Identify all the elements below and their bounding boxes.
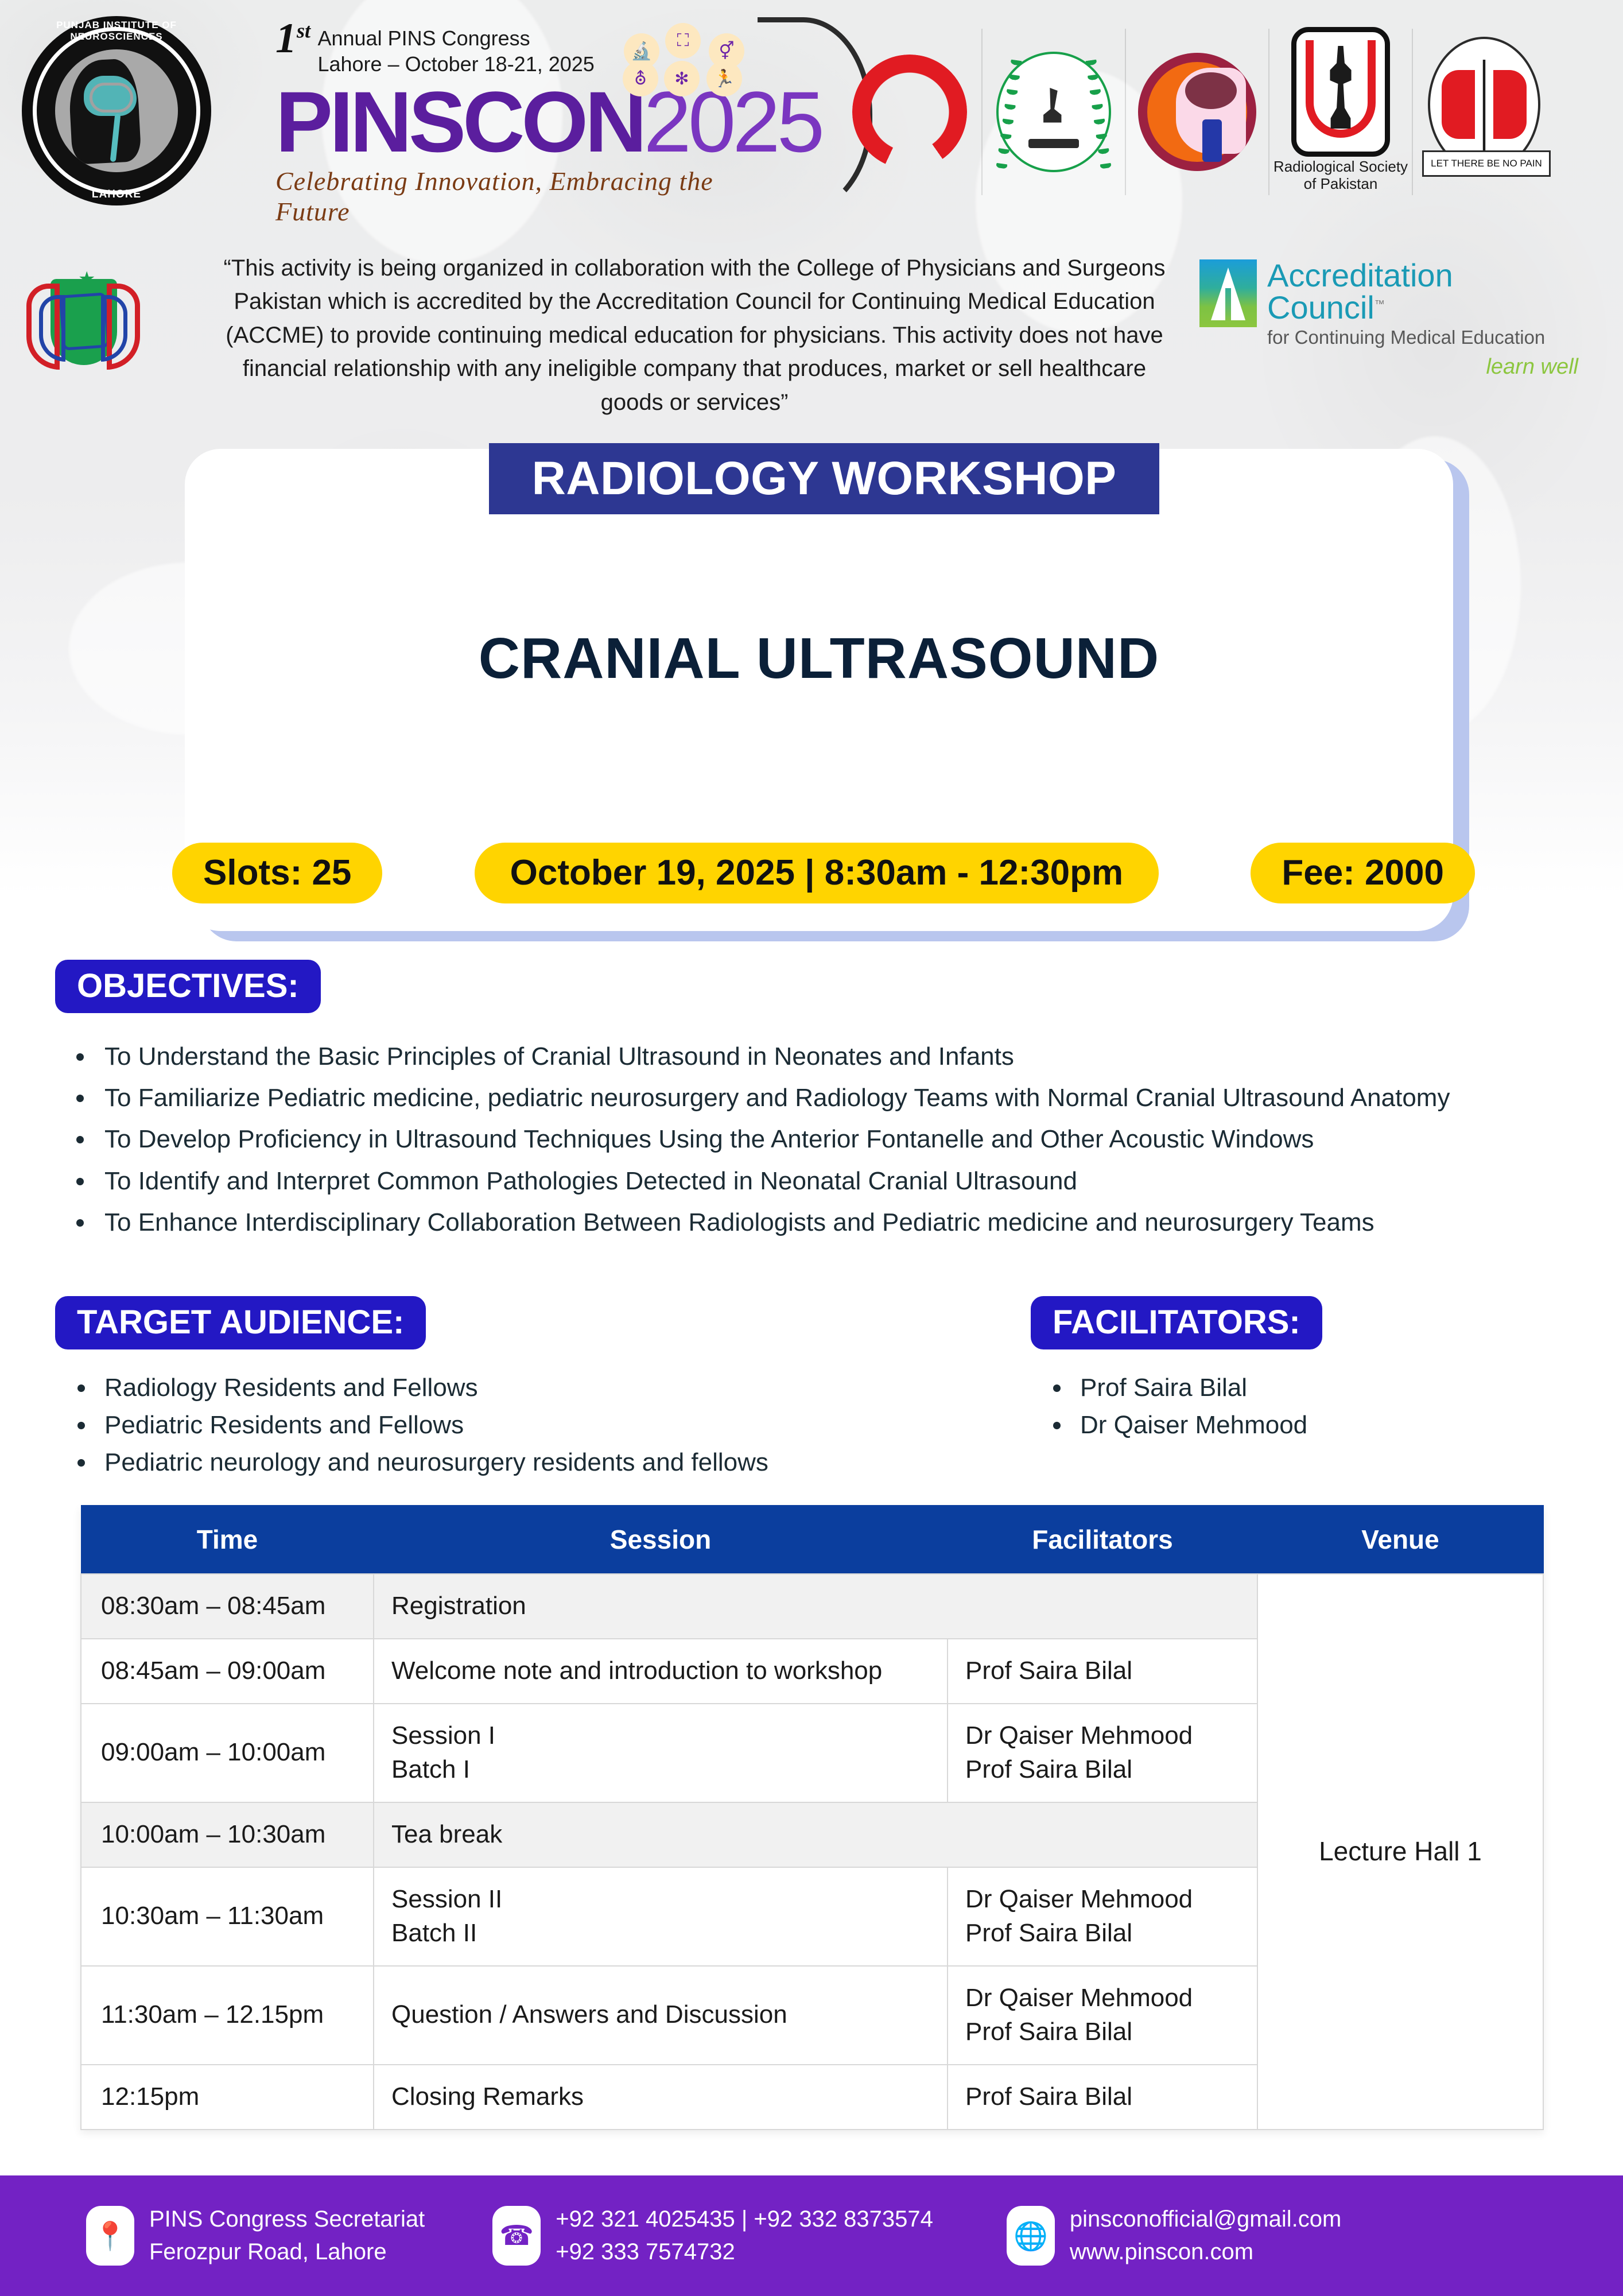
page-footer: 📍 PINS Congress Secretariat Ferozpur Roa… <box>0 2175 1623 2296</box>
page-header: PUNJAB INSTITUTE OF NEUROSCIENCES LAHORE… <box>0 0 1623 230</box>
partner-logos: Radiological Society of Pakistan LET THE… <box>838 29 1555 195</box>
congress-ordinal: 1st <box>275 22 310 56</box>
list-item: To Enhance Interdisciplinary Collaborati… <box>95 1204 1570 1241</box>
facilitators-block: FACILITATORS: Prof Saira Bilal Dr Qaiser… <box>1031 1296 1570 1481</box>
audience-facilitators-section: TARGET AUDIENCE: Radiology Residents and… <box>55 1296 1570 1481</box>
congress-tagline: Celebrating Innovation, Embracing the Fu… <box>275 166 769 227</box>
list-item: Pediatric Residents and Fellows <box>96 1406 1031 1444</box>
cell-facilitators: Dr Qaiser MehmoodProf Saira Bilal <box>948 1704 1257 1802</box>
anaesthesiologists-motto: LET THERE BE NO PAIN <box>1422 150 1551 177</box>
cell-facilitators: Prof Saira Bilal <box>948 2065 1257 2130</box>
list-item: To Understand the Basic Principles of Cr… <box>95 1038 1570 1075</box>
accme-title: Accreditation Council™ <box>1267 259 1578 324</box>
mri-scanner-icon: ⛶ <box>665 23 701 59</box>
list-item: To Familiarize Pediatric medicine, pedia… <box>95 1080 1570 1116</box>
datetime-pill: October 19, 2025 | 8:30am - 12:30pm <box>475 843 1159 903</box>
pakistan-society-of-neurology-logo <box>1125 29 1268 195</box>
target-audience-list: Radiology Residents and Fellows Pediatri… <box>55 1369 1031 1481</box>
slots-pill: Slots: 25 <box>172 843 382 903</box>
column-header-time: Time <box>81 1506 374 1574</box>
objectives-heading: OBJECTIVES: <box>55 960 321 1013</box>
radiological-society-of-pakistan-logo: Radiological Society of Pakistan <box>1268 29 1412 195</box>
cell-venue: Lecture Hall 1 <box>1257 1574 1543 2130</box>
college-of-physicians-and-surgeons-pakistan-crest: ★ <box>23 253 143 402</box>
seal-top-text: PUNJAB INSTITUTE OF NEUROSCIENCES <box>22 20 211 42</box>
list-item: Pediatric neurology and neurosurgery res… <box>96 1444 1031 1481</box>
objectives-list: To Understand the Basic Principles of Cr… <box>55 1038 1570 1241</box>
cell-time: 11:30am – 12.15pm <box>81 1966 374 2065</box>
workshop-meta-pills: Slots: 25 October 19, 2025 | 8:30am - 12… <box>172 843 1475 903</box>
column-header-session: Session <box>374 1506 948 1574</box>
brain-head-icon <box>55 49 178 172</box>
cell-session: Registration <box>374 1574 1257 1639</box>
target-audience-heading: TARGET AUDIENCE: <box>55 1296 426 1349</box>
pakistan-society-of-neurosurgeons-logo <box>838 29 981 195</box>
accme-logo: Accreditation Council™ for Continuing Me… <box>1199 259 1578 379</box>
seal-bottom-text: LAHORE <box>22 188 211 201</box>
running-person-icon: 🏃 <box>706 61 742 96</box>
schedule-table-body: 08:30am – 08:45am Registration Lecture H… <box>81 1574 1543 2130</box>
accreditation-strip: ★ “This activity is being organized in c… <box>0 247 1623 419</box>
table-header-row: Time Session Facilitators Venue <box>81 1506 1543 1574</box>
footer-web[interactable]: 🌐 pinsconofficial@gmail.com www.pinscon.… <box>1007 2203 1341 2268</box>
list-item: Dr Qaiser Mehmood <box>1072 1406 1570 1444</box>
footer-web-text[interactable]: pinsconofficial@gmail.com www.pinscon.co… <box>1070 2203 1341 2268</box>
workshop-title: CRANIAL ULTRASOUND <box>185 626 1453 692</box>
footer-phone[interactable]: ☎ +92 321 4025435 | +92 332 8373574 +92 … <box>492 2203 933 2268</box>
cell-time: 12:15pm <box>81 2065 374 2130</box>
list-item: To Develop Proficiency in Ultrasound Tec… <box>95 1121 1570 1158</box>
cell-session: Question / Answers and Discussion <box>374 1966 948 2065</box>
location-pin-icon: 📍 <box>86 2206 134 2266</box>
radiological-society-caption: Radiological Society of Pakistan <box>1269 158 1412 193</box>
globe-icon: 🌐 <box>1007 2206 1055 2266</box>
cell-session: Session IIBatch II <box>374 1867 948 1966</box>
pins-institute-seal: PUNJAB INSTITUTE OF NEUROSCIENCES LAHORE <box>22 16 211 205</box>
congress-line-1: Annual PINS Congress <box>317 25 594 51</box>
cell-session: Welcome note and introduction to worksho… <box>374 1639 948 1704</box>
phone-icon: ☎ <box>492 2206 541 2266</box>
workshop-type-label: RADIOLOGY WORKSHOP <box>532 452 1117 506</box>
cell-facilitators: Dr Qaiser MehmoodProf Saira Bilal <box>948 1867 1257 1966</box>
cell-time: 10:30am – 11:30am <box>81 1867 374 1966</box>
list-item: Prof Saira Bilal <box>1072 1369 1570 1406</box>
cell-time: 09:00am – 10:00am <box>81 1704 374 1802</box>
cell-facilitators: Prof Saira Bilal <box>948 1639 1257 1704</box>
cell-time: 10:00am – 10:30am <box>81 1802 374 1867</box>
cell-time: 08:45am – 09:00am <box>81 1639 374 1704</box>
cell-facilitators: Dr Qaiser MehmoodProf Saira Bilal <box>948 1966 1257 2065</box>
footer-address-text: PINS Congress Secretariat Ferozpur Road,… <box>149 2203 425 2268</box>
accreditation-statement: “This activity is being organized in col… <box>218 251 1171 419</box>
facilitators-list: Prof Saira Bilal Dr Qaiser Mehmood <box>1031 1369 1570 1444</box>
column-header-facilitators: Facilitators <box>948 1506 1257 1574</box>
spine-icon: ⛢ <box>623 61 658 96</box>
objectives-section: OBJECTIVES: To Understand the Basic Prin… <box>55 960 1570 1246</box>
pakistan-association-of-pathologists-logo <box>981 29 1125 195</box>
column-header-venue: Venue <box>1257 1506 1543 1574</box>
list-item: To Identify and Interpret Common Patholo… <box>95 1163 1570 1200</box>
workshop-type-banner: RADIOLOGY WORKSHOP <box>489 443 1159 514</box>
accme-subtitle: for Continuing Medical Education <box>1267 326 1578 349</box>
cell-time: 08:30am – 08:45am <box>81 1574 374 1639</box>
target-audience-block: TARGET AUDIENCE: Radiology Residents and… <box>55 1296 1031 1481</box>
accme-mark-icon <box>1199 259 1257 327</box>
cell-session: Session IBatch I <box>374 1704 948 1802</box>
facilitators-heading: FACILITATORS: <box>1031 1296 1322 1349</box>
fee-pill: Fee: 2000 <box>1251 843 1475 903</box>
footer-phone-text[interactable]: +92 321 4025435 | +92 332 8373574 +92 33… <box>556 2203 933 2268</box>
cell-session: Closing Remarks <box>374 2065 948 2130</box>
schedule-table: Time Session Facilitators Venue 08:30am … <box>80 1505 1544 2130</box>
list-item: Radiology Residents and Fellows <box>96 1369 1031 1406</box>
footer-address: 📍 PINS Congress Secretariat Ferozpur Roa… <box>86 2203 425 2268</box>
neuron-icon: ✻ <box>664 61 700 96</box>
pakistan-society-of-anaesthesiologists-logo: LET THERE BE NO PAIN <box>1412 29 1555 195</box>
accme-tagline: learn well <box>1199 355 1578 379</box>
cell-session: Tea break <box>374 1802 1257 1867</box>
table-row: 08:30am – 08:45am Registration Lecture H… <box>81 1574 1543 1639</box>
specialty-icon-cloud: 🔬 ⛶ ⚥ ⛢ ✻ 🏃 <box>623 23 755 98</box>
